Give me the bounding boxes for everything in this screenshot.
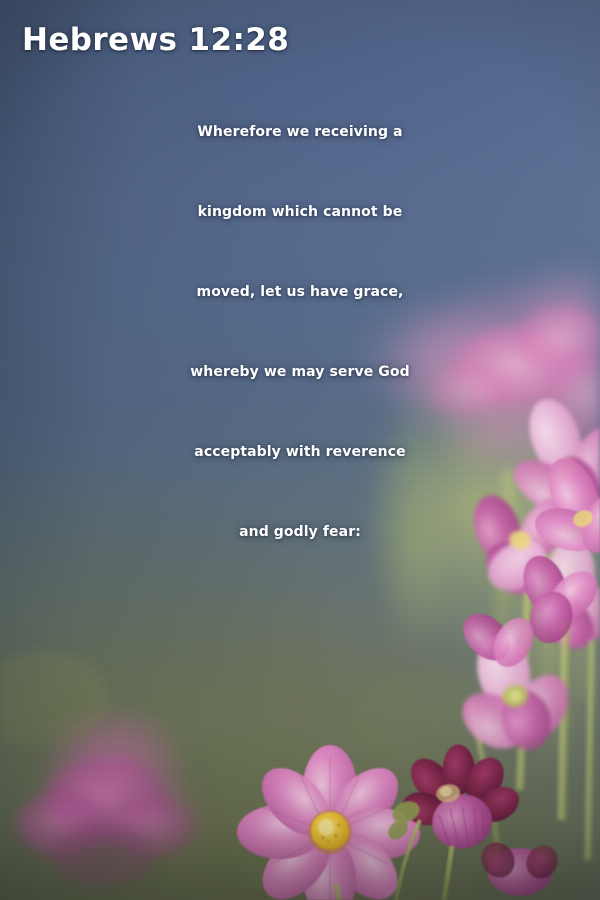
verse-line: whereby we may serve God	[16, 332, 584, 412]
verse-line: Wherefore we receiving a	[16, 92, 584, 172]
verse-image-canvas: Hebrews 12:28 Wherefore we receiving a k…	[0, 0, 600, 900]
verse-text-stack: Hebrews 12:28 Wherefore we receiving a k…	[0, 0, 600, 900]
verse-reference: Hebrews 12:28	[22, 22, 289, 58]
verse-line: kingdom which cannot be	[16, 172, 584, 252]
verse-line: acceptably with reverence	[16, 412, 584, 492]
verse-body: Wherefore we receiving a kingdom which c…	[0, 92, 600, 572]
verse-line: moved, let us have grace,	[16, 252, 584, 332]
verse-line: and godly fear:	[16, 492, 584, 572]
